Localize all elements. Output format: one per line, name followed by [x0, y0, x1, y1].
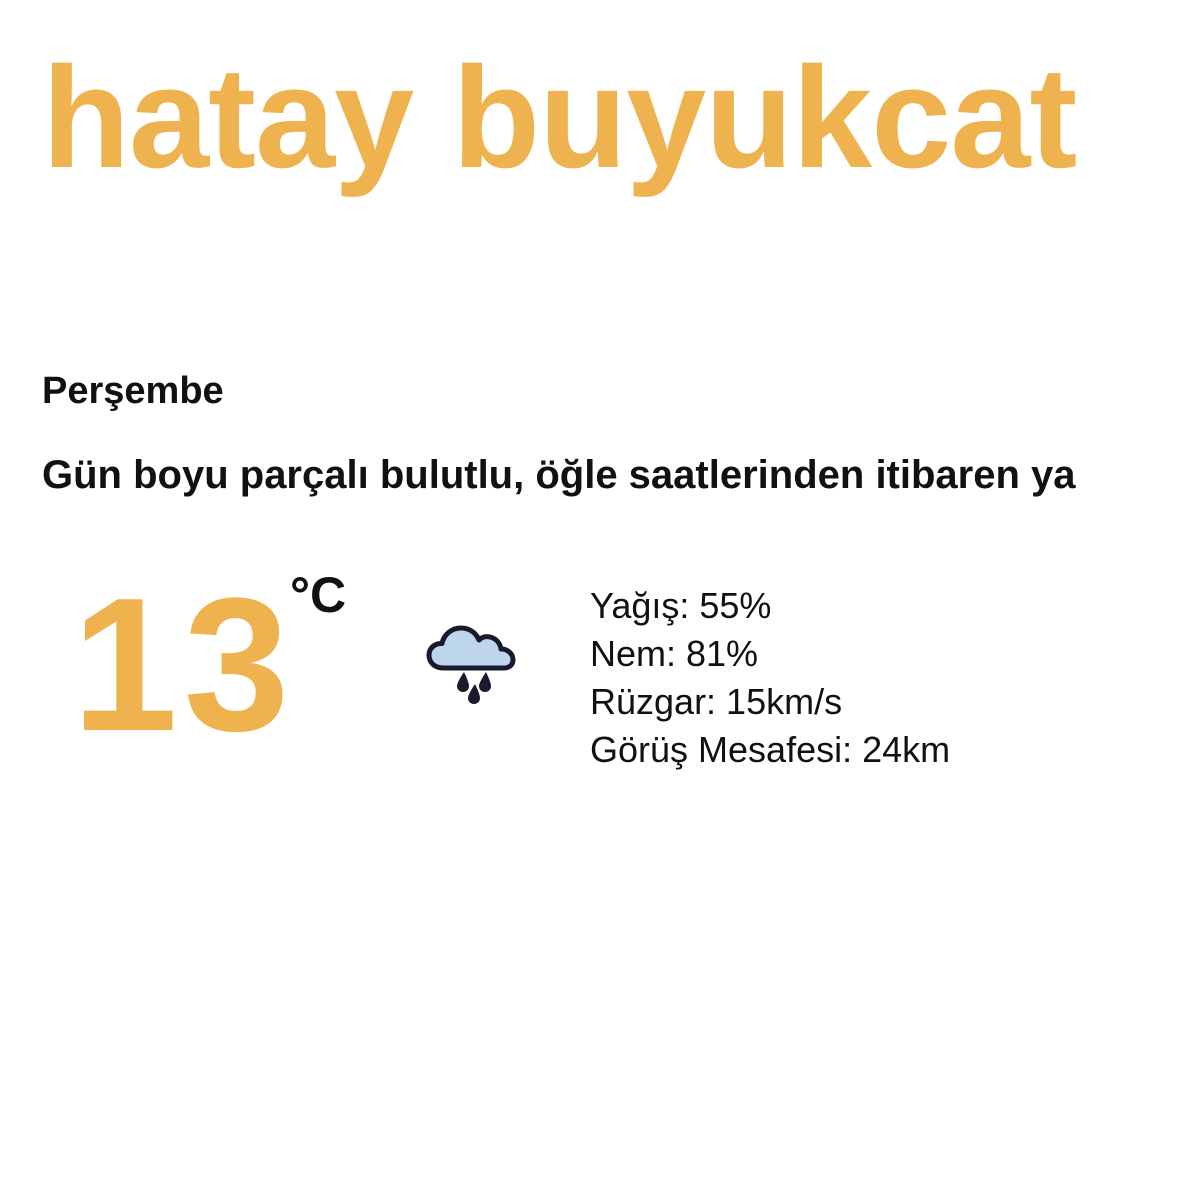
forecast-day-name: Perşembe	[42, 372, 224, 410]
detail-humidity: Nem: 81%	[590, 630, 950, 678]
detail-visibility: Görüş Mesafesi: 24km	[590, 726, 950, 774]
rain-cloud-icon	[424, 622, 516, 706]
current-conditions-row: 13 °C Yağış: 55% Nem: 81% Rüzgar: 15km/s…	[0, 560, 1200, 790]
weather-details-list: Yağış: 55% Nem: 81% Rüzgar: 15km/s Görüş…	[590, 582, 950, 774]
detail-wind: Rüzgar: 15km/s	[590, 678, 950, 726]
location-title: hatay buyukcat	[42, 62, 1200, 174]
weather-widget: hatay buyukcat Perşembe Gün boyu parçalı…	[0, 0, 1200, 1200]
detail-precipitation: Yağış: 55%	[590, 582, 950, 630]
temperature-unit: °C	[290, 570, 346, 620]
temperature-value: 13	[72, 570, 295, 760]
forecast-description: Gün boyu parçalı bulutlu, öğle saatlerin…	[42, 452, 1200, 499]
